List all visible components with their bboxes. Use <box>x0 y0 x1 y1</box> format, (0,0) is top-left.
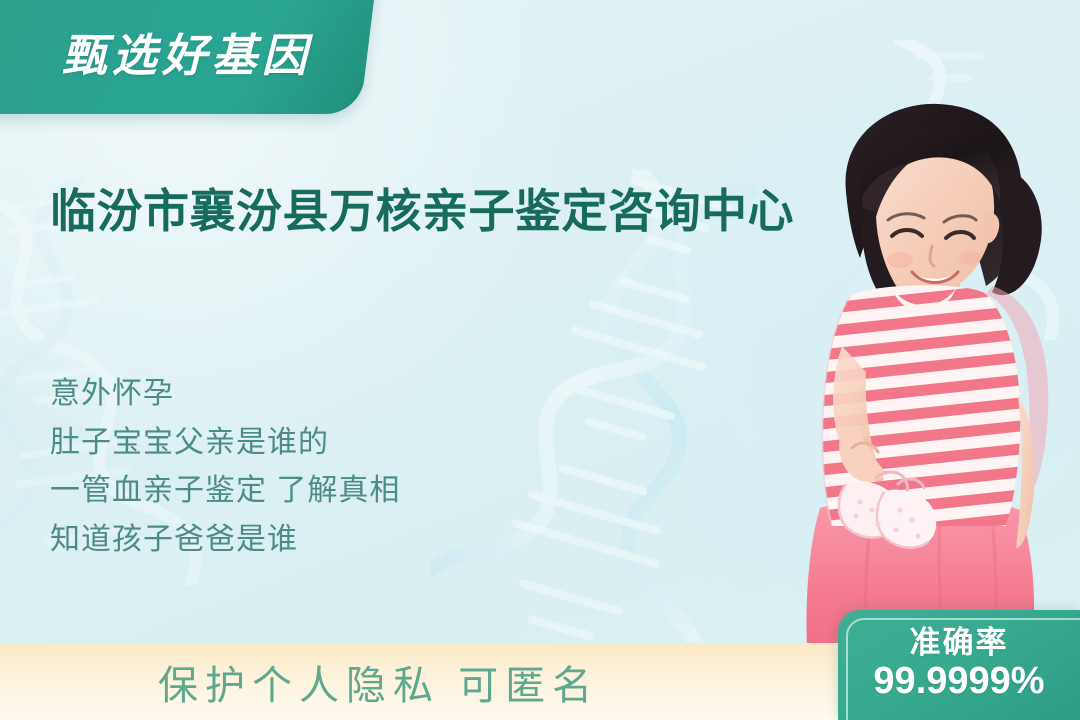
accuracy-card: 准确率 99.9999% <box>838 610 1080 720</box>
page-title: 临汾市襄汾县万核亲子鉴定咨询中心 <box>50 181 850 242</box>
brand-badge: 甄选好基因 <box>0 0 377 114</box>
brand-badge-text: 甄选好基因 <box>62 19 312 84</box>
copy-line: 意外怀孕 <box>50 370 570 419</box>
copy-block: 意外怀孕 肚子宝宝父亲是谁的 一管血亲子鉴定 了解真相 知道孩子爸爸是谁 <box>50 370 570 564</box>
copy-line: 肚子宝宝父亲是谁的 <box>50 419 570 468</box>
copy-line: 知道孩子爸爸是谁 <box>50 516 570 565</box>
accuracy-label: 准确率 <box>910 626 1009 660</box>
privacy-strip-text: 保护个人隐私 可匿名 <box>158 653 599 711</box>
accuracy-value: 99.9999% <box>873 660 1044 704</box>
promo-banner: 甄选好基因 <box>0 0 1080 720</box>
copy-line: 一管血亲子鉴定 了解真相 <box>50 467 570 516</box>
